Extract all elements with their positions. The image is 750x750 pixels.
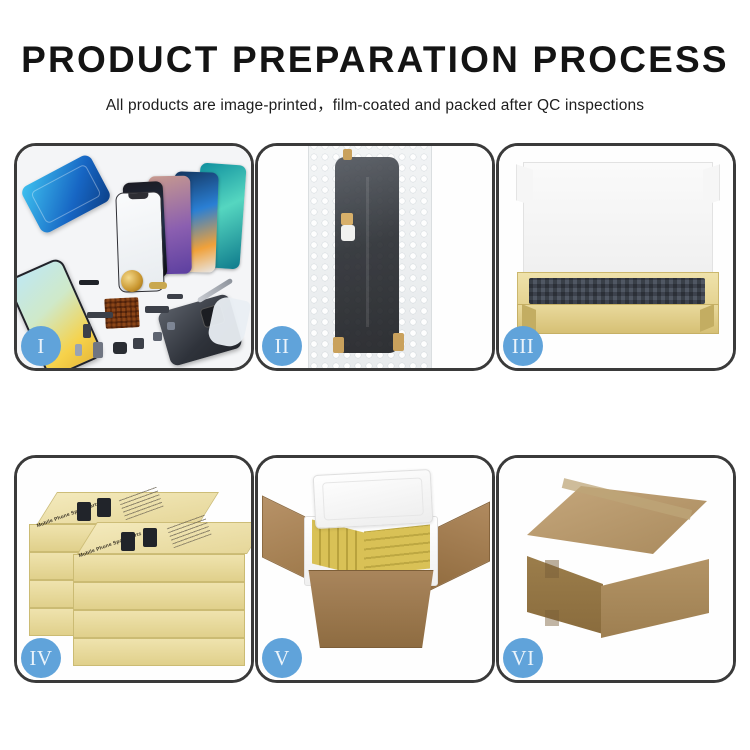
stacked-box (73, 610, 245, 638)
box-label-phone-icon (143, 528, 157, 547)
component-part (79, 280, 99, 285)
step-badge-6: VI (503, 638, 543, 678)
box-stack-icon: Mobile Phone Spare Parts Mobile Phone Sp… (29, 480, 243, 670)
stacked-box (73, 638, 245, 666)
kraft-boxes-inside (364, 525, 430, 576)
connector-tab (343, 149, 352, 160)
box-label-phone-icon (121, 532, 135, 551)
step-panel-6[interactable]: VI (496, 455, 736, 683)
carton-body (300, 570, 442, 648)
step-badge-4: IV (21, 638, 61, 678)
component-part (167, 322, 175, 330)
page-subtitle: All products are image-printed，film-coat… (0, 93, 750, 115)
step-badge-2: II (262, 326, 302, 366)
step-badge-5: V (262, 638, 302, 678)
component-part (87, 312, 113, 318)
process-grid: I II III (14, 143, 736, 683)
component-part (153, 332, 162, 341)
component-part (167, 294, 183, 299)
box-label-phone-icon (97, 498, 111, 517)
component-part (149, 282, 167, 289)
component-part (75, 344, 82, 356)
stacked-box (73, 582, 245, 610)
step-panel-5[interactable]: V (255, 455, 495, 683)
wrapped-part-icon (335, 157, 399, 353)
step-panel-3[interactable]: III (496, 143, 736, 371)
component-part (93, 342, 103, 358)
page-title: PRODUCT PREPARATION PROCESS (0, 40, 750, 81)
bubble-wrapped-contents-icon (529, 278, 705, 304)
speaker-module-icon (121, 270, 143, 292)
foam-lid-icon (313, 469, 434, 529)
component-part (133, 338, 144, 349)
component-part (341, 225, 355, 241)
component-part (145, 306, 169, 313)
step-badge-3: III (503, 326, 543, 366)
carton-seam (545, 560, 559, 578)
component-part (83, 324, 91, 338)
header: PRODUCT PREPARATION PROCESS All products… (0, 0, 750, 115)
stacked-box (73, 554, 245, 582)
box-label-phone-icon (77, 502, 91, 521)
component-part (113, 342, 127, 354)
connector-tab (341, 213, 353, 225)
bubble-wrap-bag-icon (308, 146, 432, 368)
step-panel-2[interactable]: II (255, 143, 495, 371)
box-lid-icon (523, 162, 713, 284)
carton-seam (545, 610, 559, 626)
step-badge-1: I (21, 326, 61, 366)
box-front-panel (517, 304, 719, 334)
phone-screen-fan (113, 162, 251, 282)
connector-tab (393, 333, 404, 351)
connector-tab (333, 337, 344, 353)
step-panel-1[interactable]: I (14, 143, 254, 371)
step-panel-4[interactable]: Mobile Phone Spare Parts Mobile Phone Sp… (14, 455, 254, 683)
